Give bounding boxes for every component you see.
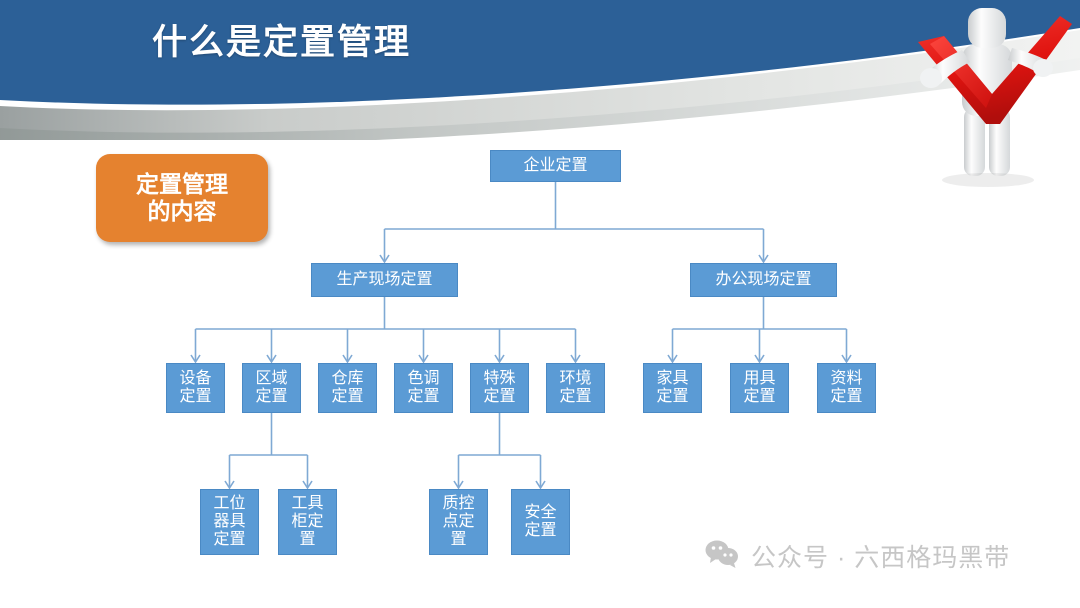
watermark-text: 公众号 · 六西格玛黑带 xyxy=(751,538,1010,574)
chart-node-area[interactable]: 区域 定置 xyxy=(242,363,301,413)
chart-node-color[interactable]: 色调 定置 xyxy=(394,363,453,413)
chart-node-cabinet[interactable]: 工具 柜定 置 xyxy=(278,489,337,555)
chart-node-prod[interactable]: 生产现场定置 xyxy=(311,263,458,297)
chart-node-warehouse[interactable]: 仓库 定置 xyxy=(318,363,377,413)
chart-node-docs[interactable]: 资料 定置 xyxy=(817,363,876,413)
chart-node-office[interactable]: 办公现场定置 xyxy=(690,263,837,297)
chart-node-station[interactable]: 工位 器具 定置 xyxy=(200,489,259,555)
chart-node-special[interactable]: 特殊 定置 xyxy=(470,363,529,413)
chart-node-tools[interactable]: 用具 定置 xyxy=(730,363,789,413)
chart-node-qcpoint[interactable]: 质控 点定 置 xyxy=(429,489,488,555)
chart-node-env[interactable]: 环境 定置 xyxy=(546,363,605,413)
wechat-icon xyxy=(705,539,739,574)
org-chart: 企业定置生产现场定置办公现场定置设备 定置区域 定置仓库 定置色调 定置特殊 定… xyxy=(0,0,1080,608)
watermark: 公众号 · 六西格玛黑带 xyxy=(705,538,1010,574)
chart-node-root[interactable]: 企业定置 xyxy=(490,150,621,182)
chart-node-safety[interactable]: 安全 定置 xyxy=(511,489,570,555)
chart-node-furniture[interactable]: 家具 定置 xyxy=(643,363,702,413)
chart-node-equip[interactable]: 设备 定置 xyxy=(166,363,225,413)
